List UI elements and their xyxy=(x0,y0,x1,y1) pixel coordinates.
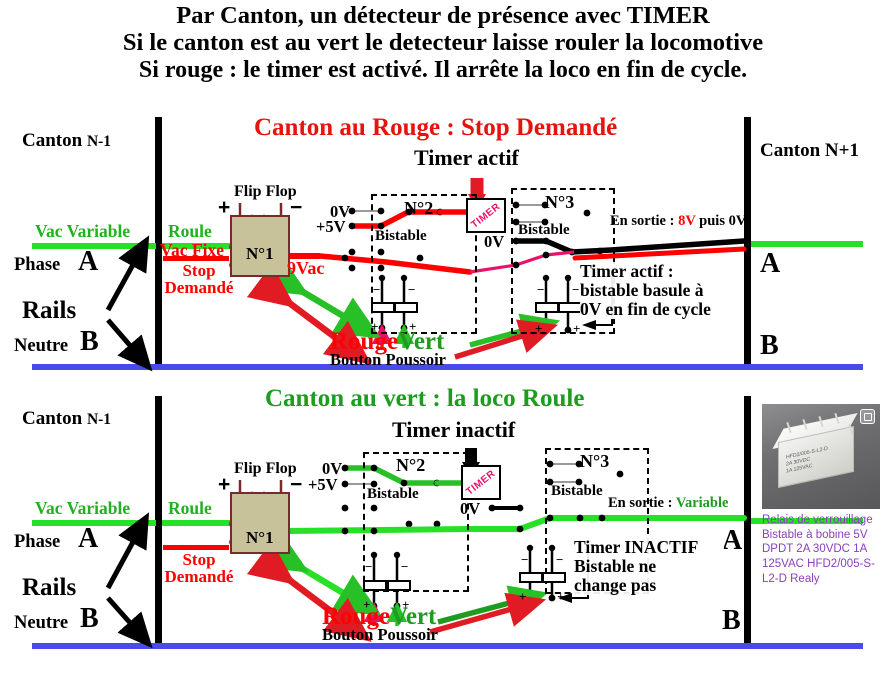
note-line1-bottom: Timer INACTIF xyxy=(574,538,724,557)
diagram-canvas: Par Canton, un détecteur de présence ave… xyxy=(0,0,886,677)
roule-label-bottom: Roule xyxy=(168,498,212,519)
rail-b-label-bottom: B xyxy=(80,603,99,635)
bistable-2-coil-right-bottom xyxy=(387,580,411,591)
en-sortie-value-top: 8V xyxy=(678,213,695,229)
note-line3-bottom: change pas xyxy=(574,576,724,595)
expand-icon[interactable] xyxy=(860,409,875,424)
canton-left-label-bottom: Canton N-1 xyxy=(22,408,111,430)
coil3-plus-left-bottom: + xyxy=(519,589,526,605)
panel-red-subtitle: Timer actif xyxy=(414,145,519,171)
rail-a-label-top: A xyxy=(78,246,98,278)
en-sortie-value-bottom: Variable xyxy=(676,495,729,511)
bistable-2-name-bottom: N°2 xyxy=(396,455,425,476)
flipflop-minus-top: − xyxy=(290,196,302,220)
rails-label-bottom: Rails xyxy=(22,574,76,602)
coil3-plus-left-top: + xyxy=(535,321,542,337)
flipflop-plus-bottom: + xyxy=(218,473,230,497)
canton-right-label-top: Canton N+1 xyxy=(760,140,859,162)
stop-demande-bottom: Stop Demandé xyxy=(160,551,238,585)
timer-label-top: TIMER xyxy=(469,201,502,230)
coil3-minus-right-bottom: − xyxy=(556,552,563,568)
bistable-2-label-top: Bistable xyxy=(375,228,427,245)
timer-label-bottom: TIMER xyxy=(464,468,497,497)
v5-left-top: +5V xyxy=(316,217,346,237)
relay-n1-label-bottom: N°1 xyxy=(246,528,274,548)
neutre-label-top: Neutre xyxy=(14,336,68,357)
rail-a-right-bottom: A xyxy=(722,525,742,557)
bp-caption-bottom: Bouton Poussoir xyxy=(322,625,438,645)
flipflop-plus-top: + xyxy=(218,196,230,220)
bistable-3-label-top: Bistable xyxy=(518,222,570,239)
rail-a-right-top: A xyxy=(760,248,780,280)
panel-red-title: Canton au Rouge : Stop Demandé xyxy=(254,114,617,142)
bistable-3-name-bottom: N°3 xyxy=(580,451,609,472)
note-line2-bottom: Bistable ne xyxy=(574,557,724,576)
canton-left-label-top: Canton N-1 xyxy=(22,130,111,152)
v0-mid-bottom: 0V xyxy=(460,499,480,519)
coil3-minus-left-bottom: − xyxy=(521,552,528,568)
stop-line1-bottom: Stop xyxy=(160,551,238,568)
panel-green-title: Canton au vert : la loco Roule xyxy=(265,385,584,413)
v0-mid-top: 0V xyxy=(484,232,504,252)
bp-caption-top: Bouton Poussoir xyxy=(330,350,446,370)
stop-line1-top: Stop xyxy=(160,262,238,279)
bistable-2-label-bottom: Bistable xyxy=(367,486,419,503)
en-sortie-suffix-top: puis 0V xyxy=(696,213,747,229)
flip-flop-label-bottom: Flip Flop xyxy=(234,460,297,478)
nine-vac-label-top: 9Vac xyxy=(287,258,324,279)
rail-a-label-bottom: A xyxy=(78,523,98,555)
coil2-minus-left-bottom: − xyxy=(365,559,372,575)
neutre-label-bottom: Neutre xyxy=(14,613,68,634)
header-line-1: Par Canton, un détecteur de présence ave… xyxy=(0,2,886,29)
stop-line2-bottom: Demandé xyxy=(160,568,238,585)
phase-label-bottom: Phase xyxy=(14,532,60,553)
coil2-minus-left-top: − xyxy=(373,282,380,298)
timer-box-top[interactable]: TIMER xyxy=(466,198,506,233)
panel-green-subtitle: Timer inactif xyxy=(392,417,515,443)
relay-product-photo[interactable]: HFD2/005-S-L2-D 2A 30VDC 1A 125VAC xyxy=(762,404,880,509)
flip-flop-label-top: Flip Flop xyxy=(234,183,297,201)
bistable-3-coil-left-top xyxy=(535,302,559,313)
flipflop-minus-bottom: − xyxy=(290,473,302,497)
note-line3-top: 0V en fin de cycle xyxy=(580,300,742,319)
coil2-minus-right-top: − xyxy=(408,282,415,298)
phase-label-top: Phase xyxy=(14,255,60,276)
vac-variable-label-top: Vac Variable xyxy=(35,221,130,242)
bistable-3-coil-right-top xyxy=(558,302,582,313)
bistable-2-coil-left-bottom xyxy=(363,580,387,591)
bistable-2-coil-left-top xyxy=(371,302,395,313)
bistable-3-coil-right-bottom xyxy=(542,572,566,583)
coil3-plus-right-bottom: + xyxy=(557,589,564,605)
header-line-2: Si le canton est au vert le detecteur la… xyxy=(0,29,886,56)
bistable-3-name-top: N°3 xyxy=(545,192,574,213)
relay-photo-caption: Relais de verrouillage Bistable à bobine… xyxy=(762,513,882,587)
en-sortie-bottom: En sortie : Variable xyxy=(608,495,728,512)
bistable-2-coil-right-top xyxy=(394,302,418,313)
note-line2-top: bistable basule à xyxy=(580,281,742,300)
bistable-3-label-bottom: Bistable xyxy=(551,483,603,500)
v5-left-bottom: +5V xyxy=(308,475,338,495)
stop-demande-top: Stop Demandé xyxy=(160,262,238,296)
timer-actif-note: Timer actif : bistable basule à 0V en fi… xyxy=(580,262,742,319)
note-line1-top: Timer actif : xyxy=(580,262,742,281)
header-line-3: Si rouge : le timer est activé. Il arrêt… xyxy=(0,57,886,84)
timer-box-bottom[interactable]: TIMER xyxy=(461,465,501,500)
canton-word-top: Canton xyxy=(22,130,82,151)
page-title: Par Canton, un détecteur de présence ave… xyxy=(0,2,886,84)
rail-b-label-top: B xyxy=(80,326,99,358)
roule-label-top: Roule xyxy=(168,221,212,242)
rail-b-right-top: B xyxy=(760,330,779,362)
canton-word-bottom: Canton xyxy=(22,408,82,429)
vac-fixe-label-top: Vac Fixe xyxy=(160,240,224,261)
rail-b-right-bottom: B xyxy=(722,605,741,637)
en-sortie-prefix-bottom: En sortie : xyxy=(608,495,676,511)
en-sortie-prefix-top: En sortie : xyxy=(610,213,678,229)
coil3-minus-right-top: − xyxy=(572,282,579,298)
timer-inactif-note: Timer INACTIF Bistable ne change pas xyxy=(574,538,724,595)
coil3-plus-right-top: + xyxy=(573,321,580,337)
en-sortie-top: En sortie : 8V puis 0V xyxy=(610,213,746,230)
vac-variable-label-bottom: Vac Variable xyxy=(35,498,130,519)
canton-index-top: N-1 xyxy=(87,133,111,150)
canton-index-bottom: N-1 xyxy=(87,411,111,428)
rails-label-top: Rails xyxy=(22,297,76,325)
bistable-3-coil-left-bottom xyxy=(519,572,543,583)
stop-line2-top: Demandé xyxy=(160,279,238,296)
bistable-2-name-top: N°2 xyxy=(404,198,433,219)
coil3-minus-left-top: − xyxy=(537,282,544,298)
relay-n1-label-top: N°1 xyxy=(246,244,274,264)
coil2-minus-right-bottom: − xyxy=(401,559,408,575)
